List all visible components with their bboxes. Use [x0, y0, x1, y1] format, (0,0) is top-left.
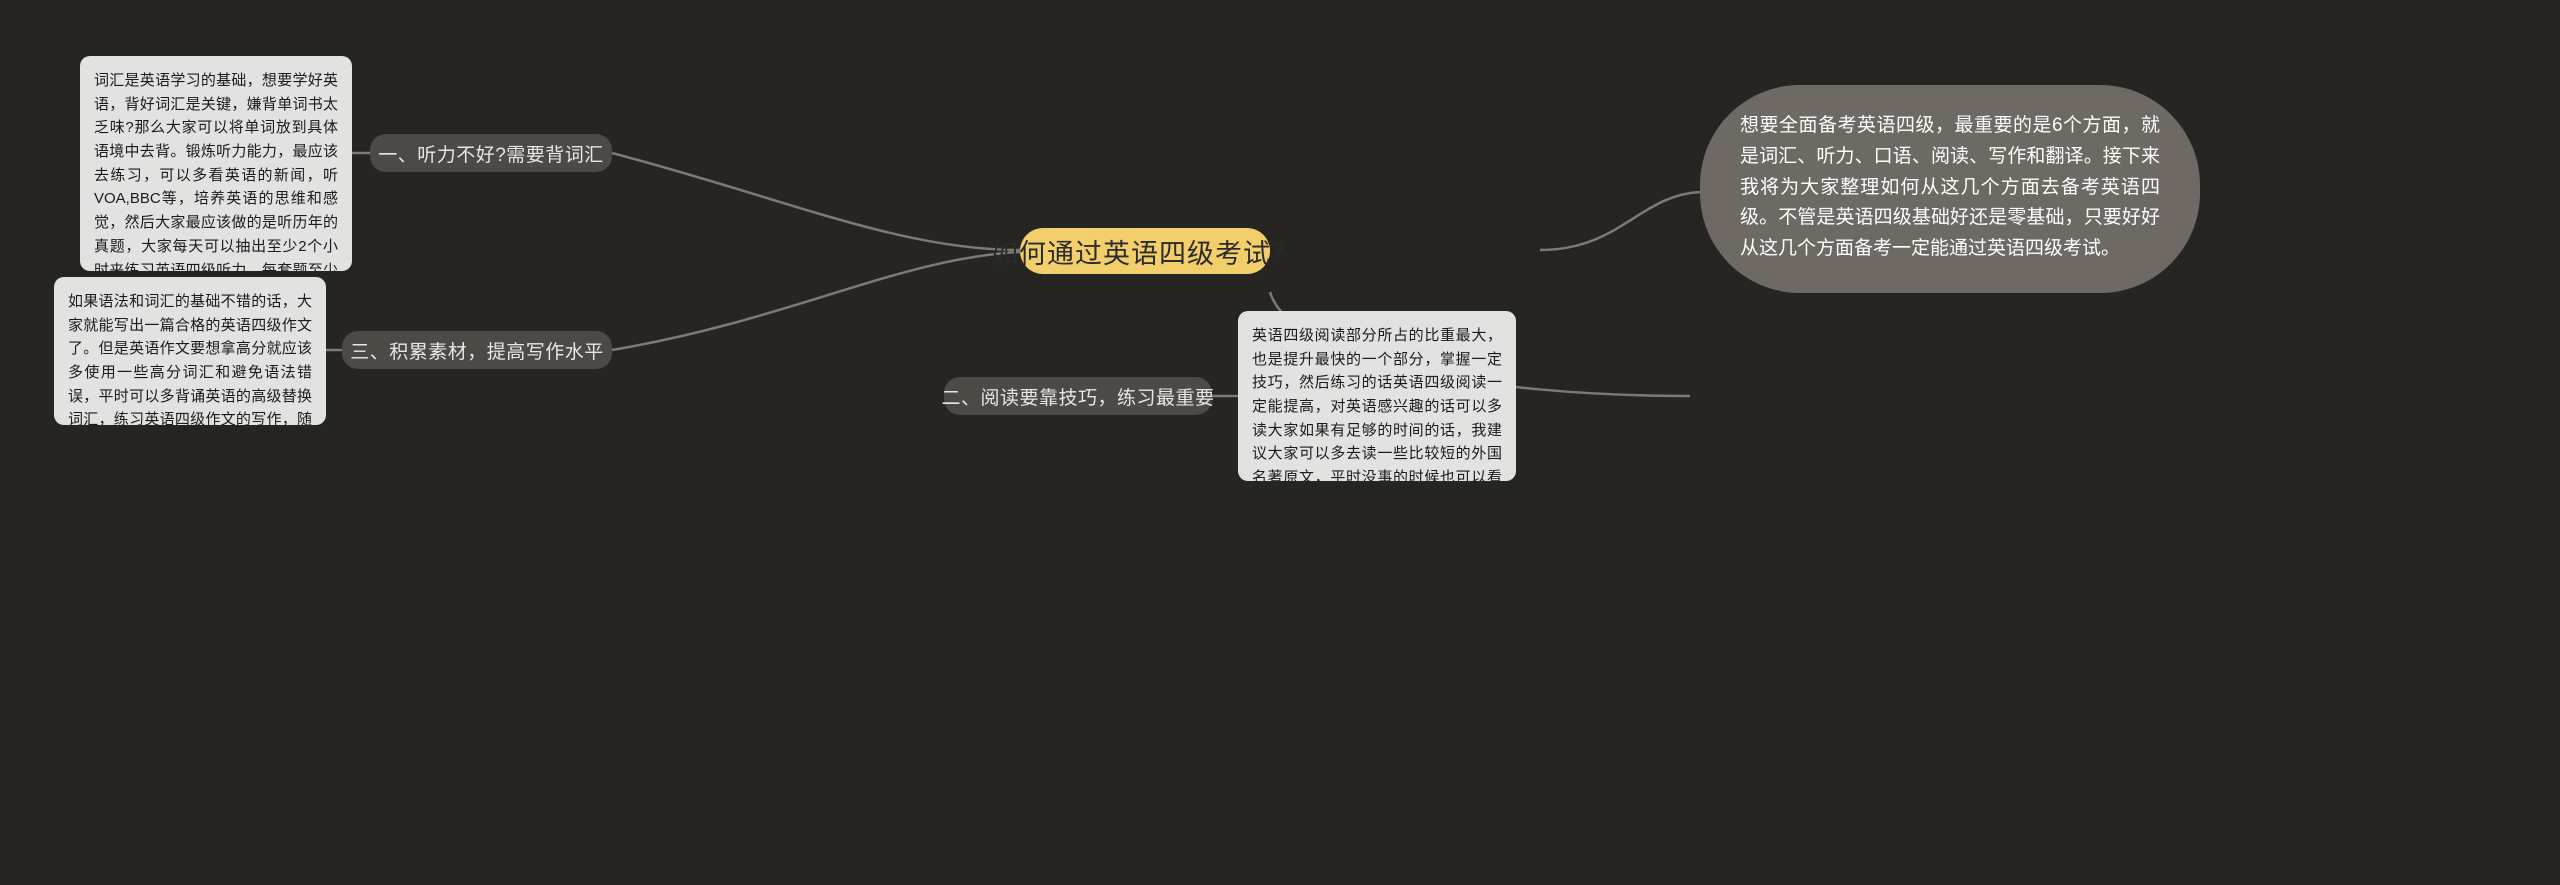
central-topic-node[interactable]: 如何通过英语四级考试？ [1020, 228, 1270, 274]
note-card-listening[interactable]: 词汇是英语学习的基础，想要学好英语，背好词汇是关键，嫌背单词书太乏味?那么大家可… [80, 56, 352, 271]
connector-central-to-listening [612, 153, 1020, 250]
note-text-reading: 英语四级阅读部分所占的比重最大，也是提升最快的一个部分，掌握一定技巧，然后练习的… [1252, 327, 1502, 481]
branch-label-listening: 一、听力不好?需要背词汇 [378, 140, 604, 167]
summary-note-card[interactable]: 想要全面备考英语四级，最重要的是6个方面，就是词汇、听力、口语、阅读、写作和翻译… [1700, 85, 2200, 293]
branch-label-reading: 二、阅读要靠技巧，练习最重要 [942, 383, 1215, 410]
mindmap-canvas: 如何通过英语四级考试？ 想要全面备考英语四级，最重要的是6个方面，就是词汇、听力… [0, 0, 2560, 885]
branch-node-reading[interactable]: 二、阅读要靠技巧，练习最重要 [944, 377, 1212, 415]
connector-central-to-writing [612, 252, 1020, 350]
note-text-listening: 词汇是英语学习的基础，想要学好英语，背好词汇是关键，嫌背单词书太乏味?那么大家可… [94, 72, 338, 271]
branch-label-writing: 三、积累素材，提高写作水平 [350, 337, 604, 364]
note-text-writing: 如果语法和词汇的基础不错的话，大家就能写出一篇合格的英语四级作文了。但是英语作文… [68, 293, 312, 425]
note-card-reading[interactable]: 英语四级阅读部分所占的比重最大，也是提升最快的一个部分，掌握一定技巧，然后练习的… [1238, 311, 1516, 481]
central-topic-label: 如何通过英语四级考试？ [991, 232, 1299, 271]
branch-node-writing[interactable]: 三、积累素材，提高写作水平 [342, 331, 612, 369]
note-card-writing[interactable]: 如果语法和词汇的基础不错的话，大家就能写出一篇合格的英语四级作文了。但是英语作文… [54, 277, 326, 425]
branch-node-listening[interactable]: 一、听力不好?需要背词汇 [370, 134, 612, 172]
connector-central-to-summary [1540, 192, 1700, 250]
summary-note-text: 想要全面备考英语四级，最重要的是6个方面，就是词汇、听力、口语、阅读、写作和翻译… [1740, 115, 2160, 259]
